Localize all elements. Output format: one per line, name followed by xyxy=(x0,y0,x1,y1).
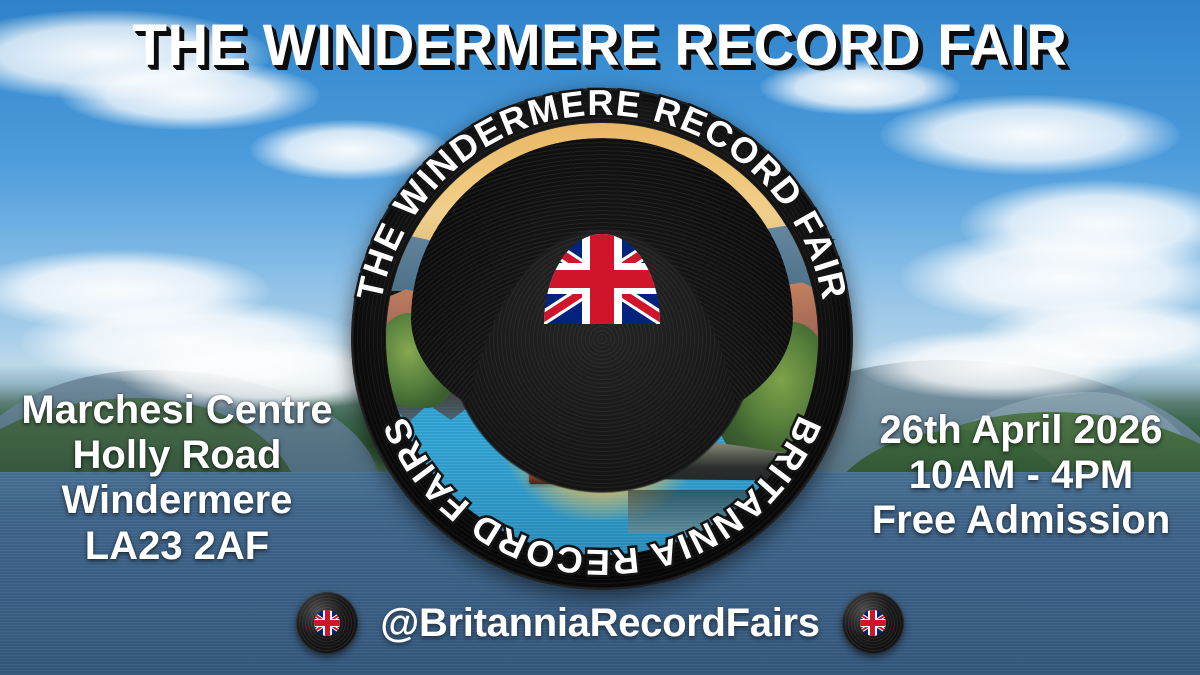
venue-address-block: Marchesi Centre Holly Road Windermere LA… xyxy=(12,388,342,569)
venue-line-3: Windermere xyxy=(12,478,342,523)
logo-artwork-lake-scene xyxy=(386,123,818,555)
artwork-left-trees xyxy=(386,313,455,408)
event-date: 26th April 2026 xyxy=(856,408,1186,453)
page-title: THE WINDERMERE RECORD FAIR xyxy=(18,12,1182,79)
venue-postcode: LA23 2AF xyxy=(12,524,342,569)
artwork-boat xyxy=(529,464,585,483)
event-poster: THE WINDERMERE RECORD FAIR xyxy=(0,0,1200,675)
event-time: 10AM - 4PM xyxy=(856,453,1186,498)
venue-line-1: Marchesi Centre xyxy=(12,388,342,433)
vinyl-disc xyxy=(351,88,853,590)
artwork-pier-reflection xyxy=(628,490,775,533)
event-admission: Free Admission xyxy=(856,498,1186,543)
social-handle-bar: @BritanniaRecordFairs xyxy=(0,592,1200,654)
vinyl-record-union-jack-icon xyxy=(296,592,358,654)
venue-line-2: Holly Road xyxy=(12,433,342,478)
social-handle-text[interactable]: @BritanniaRecordFairs xyxy=(380,601,819,646)
event-details-block: 26th April 2026 10AM - 4PM Free Admissio… xyxy=(856,408,1186,544)
britannia-record-fairs-logo: THE WINDERMERE RECORD FAIR BRITANNIA REC… xyxy=(351,88,853,590)
vinyl-record-union-jack-icon xyxy=(842,592,904,654)
